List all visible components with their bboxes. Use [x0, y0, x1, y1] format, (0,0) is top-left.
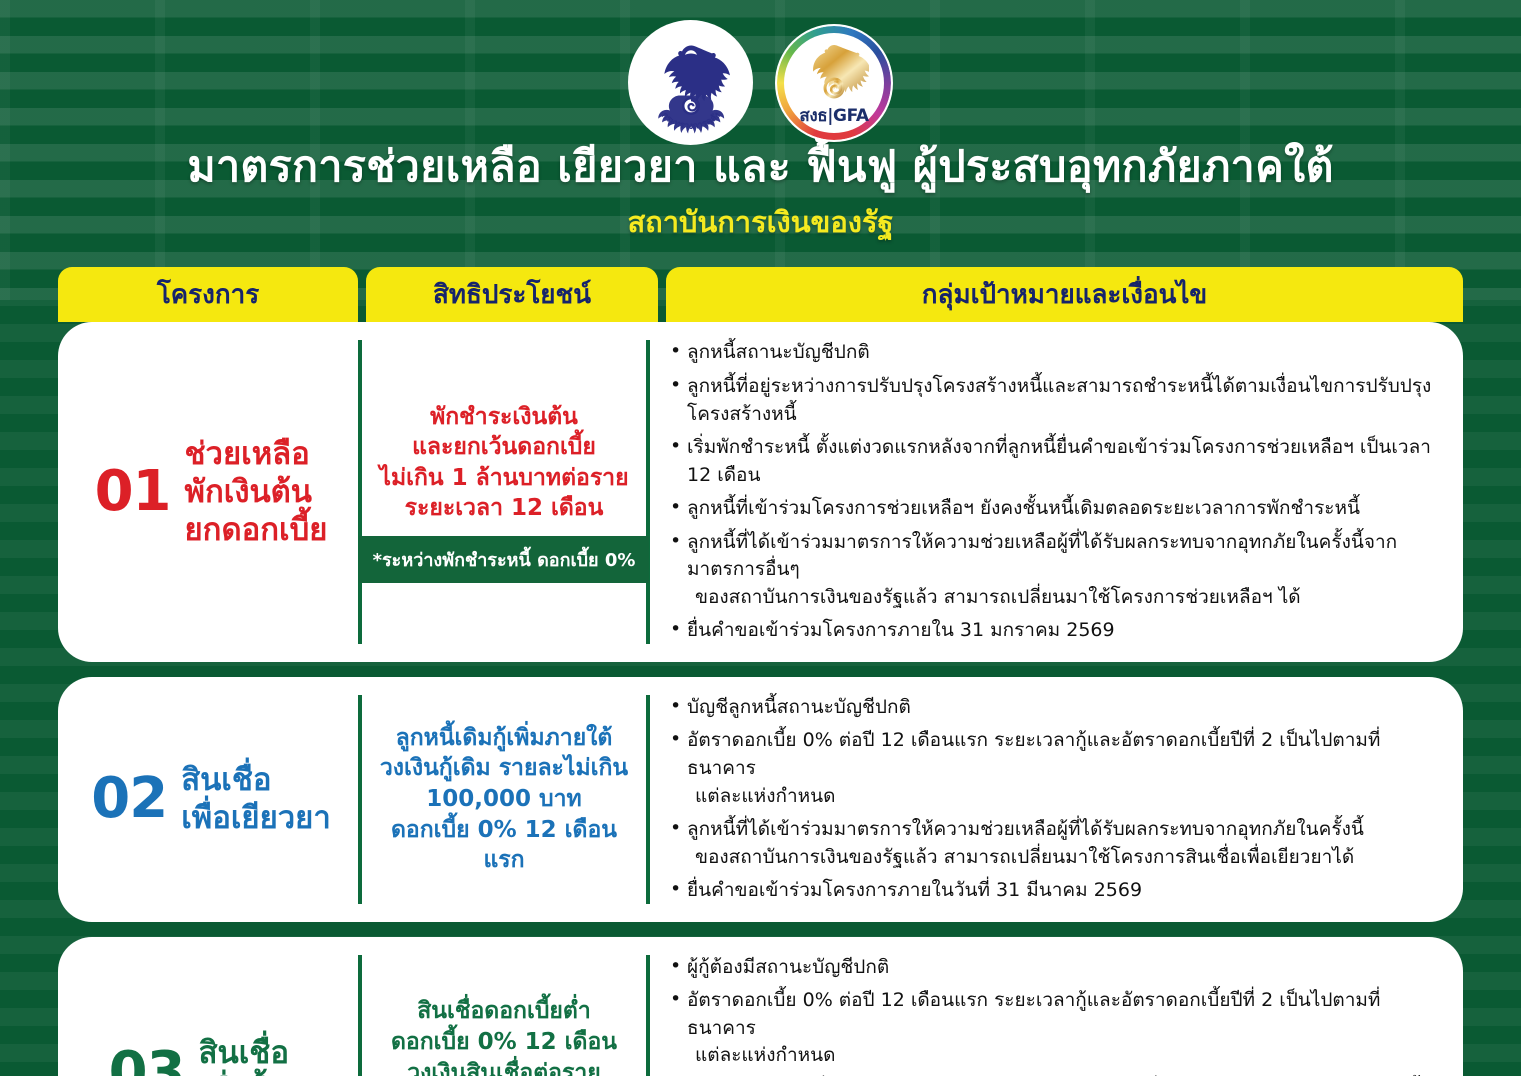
condition-text: อัตราดอกเบี้ย 0% ต่อปี 12 เดือนแรก ระยะเ… [687, 729, 1380, 779]
column-header-project: โครงการ [58, 267, 358, 322]
row-title-line: ยกดอกเบี้ย [185, 511, 328, 549]
row-conditions-cell: บัญชีลูกหนี้สถานะบัญชีปกติ อัตราดอกเบี้ย… [650, 677, 1463, 922]
benefit-line: ดอกเบี้ย 0% 12 เดือนแรก [372, 815, 636, 876]
condition-text: ลูกหนี้สถานะบัญชีปกติ [687, 341, 870, 363]
row-conditions-cell: ลูกหนี้สถานะบัญชีปกติ ลูกหนี้ที่อยู่ระหว… [650, 322, 1463, 661]
condition-text: ยื่นคำขอเข้าร่วมโครงการภายใน 31 มกราคม 2… [687, 619, 1115, 641]
measures-table: โครงการ สิทธิประโยชน์ กลุ่มเป้าหมายและเง… [58, 267, 1463, 1076]
condition-text-continued: ของสถาบันการเงินของรัฐแล้ว สามารถเปลี่ยน… [687, 584, 1441, 612]
gfa-government-financial-institutions-association-logo: สงธ|GFA [775, 24, 893, 142]
benefit-line: ลูกหนี้เดิมกู้เพิ่มภายใต้ [396, 723, 613, 754]
condition-text: ยื่นคำขอเข้าร่วมโครงการภายในวันที่ 31 มี… [687, 879, 1142, 901]
benefit-line: พักชำระเงินต้น [430, 402, 578, 433]
row-number: 02 [91, 771, 167, 827]
condition-item: ยื่นคำขอเข้าร่วมโครงการภายในวันที่ 31 มี… [668, 877, 1441, 905]
condition-text: ลูกหนี้ที่เข้าร่วมโครงการช่วยเหลือฯ ยังค… [687, 497, 1360, 519]
condition-item: บัญชีลูกหนี้สถานะบัญชีปกติ [668, 694, 1441, 722]
condition-text: อัตราดอกเบี้ย 0% ต่อปี 12 เดือนแรก ระยะเ… [687, 989, 1380, 1039]
condition-item: ลูกหนี้ที่อยู่ระหว่างการปรับปรุงโครงสร้า… [668, 373, 1441, 428]
benefit-line: และยกเว้นดอกเบี้ย [412, 432, 596, 463]
page-title: มาตรการช่วยเหลือ เยียวยา และ ฟื้นฟู ผู้ป… [0, 143, 1521, 192]
table-row: 02 สินเชื่อ เพื่อเยียวยา ลูกหนี้เดิมกู้เ… [58, 677, 1463, 922]
condition-text: เริ่มพักชำระหนี้ ตั้งแต่งวดแรกหลังจากที่… [687, 436, 1431, 486]
condition-text-continued: ของสถาบันการเงินของรัฐแล้ว สามารถเปลี่ยน… [687, 844, 1441, 872]
benefit-line: ไม่เกิน 1 ล้านบาทต่อราย [379, 463, 628, 494]
table-row: 01 ช่วยเหลือ พักเงินต้น ยกดอกเบี้ย พักชำ… [58, 322, 1463, 661]
condition-text-continued: แต่ละแห่งกำหนด [687, 783, 1441, 811]
logo-row: กระทรวงการคลัง [0, 0, 1521, 145]
condition-text-continued: แต่ละแห่งกำหนด [687, 1042, 1441, 1070]
row-conditions-cell: ผู้กู้ต้องมีสถานะบัญชีปกติ อัตราดอกเบี้ย… [650, 937, 1463, 1076]
row-title-line: สินเชื่อ [199, 1034, 314, 1072]
gfa-logo-text: สงธ|GFA [799, 102, 868, 129]
benefit-badge: *ระหว่างพักชำระหนี้ ดอกเบี้ย 0% [359, 536, 650, 583]
row-benefit-cell: พักชำระเงินต้น และยกเว้นดอกเบี้ย ไม่เกิน… [358, 340, 650, 643]
benefit-line: ระยะเวลา 12 เดือน [405, 493, 604, 524]
benefit-line: วงเงินสินเชื่อต่อราย [407, 1058, 601, 1076]
row-title: สินเชื่อ เพื่อฟื้นฟู [199, 1034, 314, 1076]
benefit-line: สินเชื่อดอกเบี้ยต่ำ [417, 996, 591, 1027]
condition-item: อัตราดอกเบี้ย 0% ต่อปี 12 เดือนแรก ระยะเ… [668, 987, 1441, 1070]
condition-item: ลูกหนี้สถานะบัญชีปกติ [668, 339, 1441, 367]
row-title: ช่วยเหลือ พักเงินต้น ยกดอกเบี้ย [185, 435, 328, 550]
column-header-benefits: สิทธิประโยชน์ [366, 267, 658, 322]
condition-item: เริ่มพักชำระหนี้ ตั้งแต่งวดแรกหลังจากที่… [668, 434, 1441, 489]
condition-item: ลูกหนี้ที่เข้าร่วมโครงการช่วยเหลือฯ ยังค… [668, 495, 1441, 523]
condition-item: อัตราดอกเบี้ย 0% ต่อปี 12 เดือนแรก ระยะเ… [668, 727, 1441, 810]
ministry-of-finance-garuda-logo: กระทรวงการคลัง [628, 20, 753, 145]
condition-text: ลูกหนี้ที่ได้เข้าร่วมมาตรการให้ความช่วยเ… [687, 818, 1364, 840]
benefit-line: ดอกเบี้ย 0% 12 เดือน [391, 1027, 617, 1058]
benefit-line: 100,000 บาท [426, 784, 581, 815]
condition-item: ยื่นคำขอเข้าร่วมโครงการภายใน 31 มกราคม 2… [668, 617, 1441, 645]
infographic-poster: กระทรวงการคลัง [0, 0, 1521, 1076]
row-project-cell: 03 สินเชื่อ เพื่อฟื้นฟู [58, 937, 358, 1076]
row-benefit-cell: ลูกหนี้เดิมกู้เพิ่มภายใต้ วงเงินกู้เดิม … [358, 695, 650, 904]
condition-item: ลูกหนี้ที่ได้เข้าร่วมมาตรการให้ความช่วยเ… [668, 816, 1441, 871]
title-block: มาตรการช่วยเหลือ เยียวยา และ ฟื้นฟู ผู้ป… [0, 143, 1521, 245]
condition-text: ลูกหนี้ที่อยู่ระหว่างการปรับปรุงโครงสร้า… [687, 375, 1431, 425]
benefit-line: วงเงินกู้เดิม รายละไม่เกิน [380, 753, 628, 784]
row-title-line: ช่วยเหลือ [185, 435, 328, 473]
table-row: 03 สินเชื่อ เพื่อฟื้นฟู สินเชื่อดอกเบี้ย… [58, 937, 1463, 1076]
condition-text: ลูกหนี้ที่ได้เข้าร่วมมาตรการให้ความช่วยเ… [687, 531, 1397, 581]
row-title-line: สินเชื่อ [181, 761, 331, 799]
row-number: 03 [109, 1045, 185, 1076]
row-title-line: พักเงินต้น [185, 473, 328, 511]
row-benefit-cell: สินเชื่อดอกเบี้ยต่ำ ดอกเบี้ย 0% 12 เดือน… [358, 955, 650, 1076]
row-title-line: เพื่อเยียวยา [181, 799, 331, 837]
condition-item: ลูกหนี้ที่ได้เข้าร่วมมาตรการให้ความช่วยเ… [668, 529, 1441, 612]
condition-item: ผู้กู้ต้องมีสถานะบัญชีปกติ [668, 954, 1441, 982]
row-project-cell: 01 ช่วยเหลือ พักเงินต้น ยกดอกเบี้ย [58, 322, 358, 661]
column-header-conditions: กลุ่มเป้าหมายและเงื่อนไข [666, 267, 1463, 322]
table-header-row: โครงการ สิทธิประโยชน์ กลุ่มเป้าหมายและเง… [58, 267, 1463, 322]
condition-text: ผู้กู้ต้องมีสถานะบัญชีปกติ [687, 956, 889, 978]
page-subtitle: สถาบันการเงินของรัฐ [0, 199, 1521, 245]
row-project-cell: 02 สินเชื่อ เพื่อเยียวยา [58, 677, 358, 922]
row-number: 01 [95, 464, 171, 520]
condition-text: บัญชีลูกหนี้สถานะบัญชีปกติ [687, 696, 911, 718]
row-title: สินเชื่อ เพื่อเยียวยา [181, 761, 331, 838]
